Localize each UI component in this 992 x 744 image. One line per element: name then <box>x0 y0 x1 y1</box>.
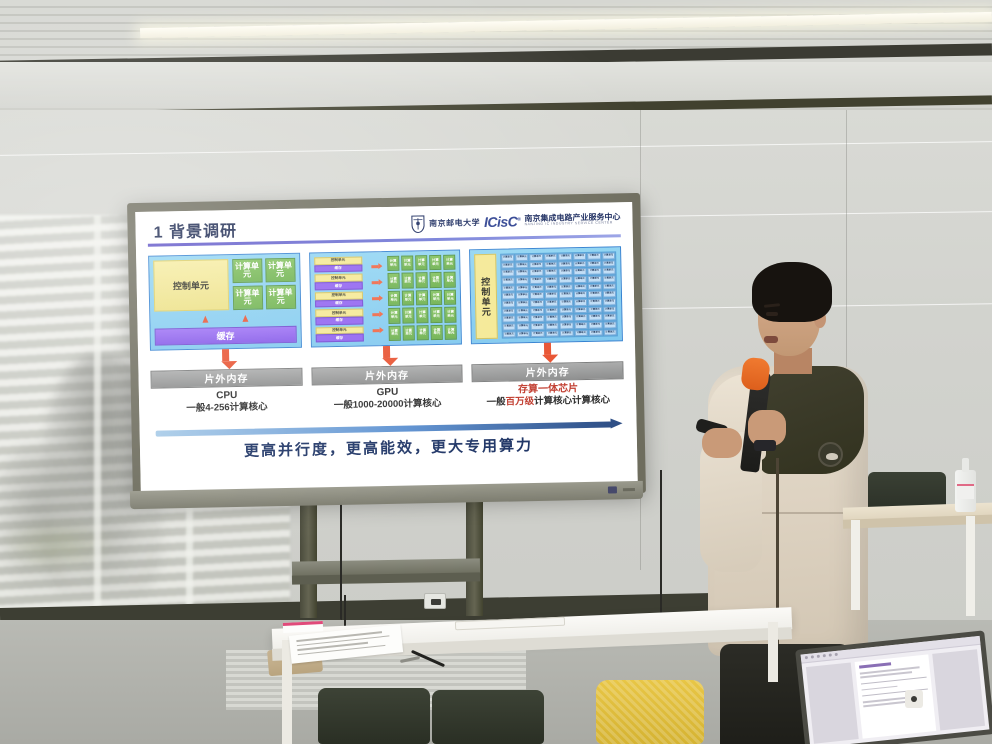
gpu-core: 计算单元 <box>444 289 456 305</box>
pim-cell: 计算单元 <box>587 260 601 267</box>
pim-cell: 计算单元 <box>516 308 530 315</box>
pim-cell: 计算单元 <box>560 322 574 329</box>
pim-cell: 计算单元 <box>516 285 530 292</box>
pim-cell: 计算单元 <box>603 321 617 328</box>
pim-cell: 计算单元 <box>560 330 574 337</box>
gpu-core-grid: 计算单元计算单元计算单元计算单元计算单元计算单元计算单元计算单元计算单元计算单元… <box>387 255 457 342</box>
gpu-control-cache-pair: 控制单元缓存 <box>314 274 362 290</box>
cpu-offchip-memory: 片外内存 <box>150 368 302 388</box>
pim-cell: 计算单元 <box>588 268 602 275</box>
pim-cell: 计算单元 <box>574 307 588 314</box>
laptop-right-pane <box>933 649 986 730</box>
wall-socket[interactable] <box>905 690 923 708</box>
service-center-name: 南京集成电路产业服务中心 NANJING IC INDUSTRY SERVICE… <box>524 214 620 227</box>
hand-sanitizer-bottle[interactable] <box>955 470 976 512</box>
pim-cell: 计算单元 <box>501 285 515 292</box>
pim-cell: 计算单元 <box>588 276 602 283</box>
gpu-core: 计算单元 <box>416 273 428 289</box>
pim-cell: 计算单元 <box>573 261 587 268</box>
table-right-leg <box>851 520 860 610</box>
pim-cell: 计算单元 <box>530 254 544 261</box>
pim-cell: 计算单元 <box>602 291 616 298</box>
gpu-control-cache-pair: 控制单元缓存 <box>314 256 362 272</box>
gpu-core: 计算单元 <box>388 291 400 307</box>
pim-cell: 计算单元 <box>515 269 529 276</box>
pim-cell: 计算单元 <box>502 331 516 338</box>
pim-cell: 计算单元 <box>574 299 588 306</box>
pim-cell: 计算单元 <box>573 253 587 260</box>
cpu-core: 计算单元 <box>232 258 263 283</box>
pim-cell: 计算单元 <box>603 306 617 313</box>
chair-dark[interactable] <box>318 688 430 744</box>
pim-cell: 计算单元 <box>502 308 516 315</box>
pim-cell: 计算单元 <box>517 331 531 338</box>
gpu-control-cache-pair: 控制单元缓存 <box>315 291 363 307</box>
gpu-core: 计算单元 <box>387 256 399 272</box>
pim-cell: 计算单元 <box>559 299 573 306</box>
pim-cell: 计算单元 <box>559 284 573 291</box>
pim-cell: 计算单元 <box>602 260 616 267</box>
pim-cell: 计算单元 <box>589 322 603 329</box>
gpu-core: 计算单元 <box>415 255 427 271</box>
cpu-caption: CPU 一般4-256计算核心 <box>151 388 303 415</box>
gpu-core: 计算单元 <box>401 273 413 289</box>
table-main-leg <box>768 622 778 682</box>
pim-cell: 计算单元 <box>603 329 617 336</box>
gpu-core: 计算单元 <box>445 324 457 340</box>
window-silhouette-2 <box>0 445 85 595</box>
right-arrow-icon <box>367 292 384 306</box>
gpu-core: 计算单元 <box>444 307 456 323</box>
pim-cell: 计算单元 <box>588 299 602 306</box>
slide-title: 1 背景调研 <box>153 217 237 243</box>
pim-cell: 计算单元 <box>603 298 617 305</box>
cpu-control-unit: 控制单元 <box>153 259 229 312</box>
pim-cell: 计算单元 <box>588 283 602 290</box>
pim-cell: 计算单元 <box>560 314 574 321</box>
pim-cell: 计算单元 <box>531 307 545 314</box>
pim-cell: 计算单元 <box>530 269 544 276</box>
room-scene: 1 背景调研 南京邮电大学 ICisC® 南京集成电路产业服务中心 NANJIN… <box>0 0 992 744</box>
pim-cell: 计算单元 <box>559 276 573 283</box>
pim-cell: 计算单元 <box>544 269 558 276</box>
gpu-cache: 缓存 <box>315 334 363 343</box>
gpu-core: 计算单元 <box>430 290 442 306</box>
gpu-cache: 缓存 <box>315 299 363 308</box>
pim-cell: 计算单元 <box>574 330 588 337</box>
right-arrow-icon <box>366 260 383 274</box>
cpu-core: 计算单元 <box>265 258 296 283</box>
stand-leg-right <box>466 498 483 616</box>
pim-cell: 计算单元 <box>559 292 573 299</box>
laptop-lid <box>795 630 992 744</box>
pim-cell: 计算单元 <box>516 277 530 284</box>
pim-cell: 计算单元 <box>574 291 588 298</box>
power-outlet[interactable] <box>424 593 446 609</box>
laptop-document <box>854 654 936 738</box>
pim-cell: 计算单元 <box>545 292 559 299</box>
gpu-core: 计算单元 <box>388 308 400 324</box>
pim-control-unit: 控制单元 <box>474 254 497 340</box>
wristwatch <box>754 440 776 451</box>
up-arrow-icon <box>202 316 208 323</box>
pim-cell: 计算单元 <box>501 262 515 269</box>
display-buttons[interactable] <box>623 488 635 491</box>
pim-cell: 计算单元 <box>545 315 559 322</box>
gpu-architecture-box: 控制单元缓存控制单元缓存控制单元缓存控制单元缓存控制单元缓存 计算单元计算单元计… <box>309 249 463 347</box>
sanitizer-pump[interactable] <box>962 458 969 472</box>
gpu-core: 计算单元 <box>402 308 414 324</box>
gpu-core: 计算单元 <box>429 255 441 271</box>
gpu-control-cache-column: 控制单元缓存控制单元缓存控制单元缓存控制单元缓存控制单元缓存 <box>314 256 364 342</box>
name-card <box>283 621 323 633</box>
pim-cell: 计算单元 <box>573 284 587 291</box>
pim-cell: 计算单元 <box>515 254 529 261</box>
cpu-core-cache-arrows <box>154 313 296 325</box>
pim-cell: 计算单元 <box>573 268 587 275</box>
pim-cell: 计算单元 <box>587 253 601 260</box>
table-right-leg <box>966 516 975 616</box>
cpu-core: 计算单元 <box>265 285 296 310</box>
gpu-caption: GPU 一般1000-20000计算核心 <box>311 385 463 412</box>
laptop-left-pane <box>806 663 859 744</box>
university-name: 南京邮电大学 <box>429 217 480 229</box>
right-arrow-icon <box>367 323 384 337</box>
gpu-core: 计算单元 <box>387 273 399 289</box>
gpu-core: 计算单元 <box>402 325 414 341</box>
pim-cell: 计算单元 <box>544 261 558 268</box>
pim-cell: 计算单元 <box>530 277 544 284</box>
crest-icon <box>410 214 425 233</box>
pim-cell-grid: 计算单元计算单元计算单元计算单元计算单元计算单元计算单元计算单元计算单元计算单元… <box>500 251 618 339</box>
pim-cell: 计算单元 <box>531 330 545 337</box>
pim-cell: 计算单元 <box>530 292 544 299</box>
cpu-core-grid: 计算单元 计算单元 计算单元 计算单元 <box>232 258 296 310</box>
gpu-core: 计算单元 <box>416 290 428 306</box>
pim-cell: 计算单元 <box>602 275 616 282</box>
pim-cell: 计算单元 <box>531 323 545 330</box>
pim-cell: 计算单元 <box>558 253 572 260</box>
pim-cell: 计算单元 <box>588 291 602 298</box>
gpu-core: 计算单元 <box>443 255 455 271</box>
pim-cell: 计算单元 <box>589 314 603 321</box>
icisc-brand: ICisC® <box>484 213 521 230</box>
pim-cell: 计算单元 <box>545 284 559 291</box>
panel-gpu: 控制单元缓存控制单元缓存控制单元缓存控制单元缓存控制单元缓存 计算单元计算单元计… <box>309 249 464 412</box>
gpu-core: 计算单元 <box>430 272 442 288</box>
pim-offchip-memory: 片外内存 <box>472 361 624 381</box>
down-arrow-icon <box>221 349 231 369</box>
pim-cell: 计算单元 <box>602 283 616 290</box>
gpu-core: 计算单元 <box>416 307 428 323</box>
pim-cell: 计算单元 <box>546 330 560 337</box>
pim-cell: 计算单元 <box>517 323 531 330</box>
display-cable <box>340 500 342 620</box>
pim-cell: 计算单元 <box>516 300 530 307</box>
chair-yellow[interactable] <box>596 680 704 744</box>
presenter-mouth <box>764 336 778 343</box>
gpu-cache: 缓存 <box>314 282 362 291</box>
gpu-core: 计算单元 <box>401 255 413 271</box>
pim-cell: 计算单元 <box>588 306 602 313</box>
gpu-offchip-memory: 片外内存 <box>311 365 463 385</box>
presenter-left-hand <box>702 428 742 458</box>
pim-cell: 计算单元 <box>573 276 587 283</box>
pim-cell: 计算单元 <box>602 252 616 259</box>
right-arrow-icon <box>367 307 384 321</box>
pim-cell: 计算单元 <box>560 307 574 314</box>
gpu-control-cache-pair: 控制单元缓存 <box>315 326 363 342</box>
panel-pim: 控制单元 计算单元计算单元计算单元计算单元计算单元计算单元计算单元计算单元计算单… <box>469 246 624 409</box>
laptop[interactable] <box>795 630 992 744</box>
pim-cell: 计算单元 <box>574 322 588 329</box>
pim-cell: 计算单元 <box>589 329 603 336</box>
cpu-cache: 缓存 <box>155 326 297 346</box>
pim-cell: 计算单元 <box>516 315 530 322</box>
logo-lockup: 南京邮电大学 ICisC® 南京集成电路产业服务中心 NANJING IC IN… <box>410 207 621 235</box>
right-arrow-icon <box>366 276 383 290</box>
pim-cell: 计算单元 <box>502 300 516 307</box>
presenter-eye <box>766 312 778 316</box>
gpu-core: 计算单元 <box>402 290 414 306</box>
gpu-core: 计算单元 <box>430 307 442 323</box>
pim-caption-sub: 一般百万级计算核心计算核心 <box>472 394 624 409</box>
pim-cell: 计算单元 <box>516 292 530 299</box>
pim-cell: 计算单元 <box>515 262 529 269</box>
service-center-en: NANJING IC INDUSTRY SERVICE CENTER <box>525 222 621 227</box>
gpu-cache: 缓存 <box>315 316 363 325</box>
cpu-architecture-box: 控制单元 计算单元 计算单元 计算单元 计算单元 <box>148 253 302 351</box>
display-screen[interactable]: 1 背景调研 南京邮电大学 ICisC® 南京集成电路产业服务中心 NANJIN… <box>135 202 638 492</box>
gpu-control-cache-pair: 控制单元缓存 <box>315 309 363 325</box>
pim-cell: 计算单元 <box>602 268 616 275</box>
slide-bottom-banner: 更高并行度，更高能效，更大专用算力 <box>140 432 637 463</box>
pim-cell: 计算单元 <box>531 300 545 307</box>
slide: 1 背景调研 南京邮电大学 ICisC® 南京集成电路产业服务中心 NANJIN… <box>135 202 638 492</box>
cpu-core: 计算单元 <box>232 286 263 311</box>
presenter-hair <box>752 262 832 322</box>
pim-cell: 计算单元 <box>574 314 588 321</box>
gpu-core: 计算单元 <box>388 325 400 341</box>
gpu-caption-sub: 一般1000-20000计算核心 <box>312 398 464 413</box>
gpu-cache: 缓存 <box>314 264 362 273</box>
pim-cell: 计算单元 <box>545 322 559 329</box>
pim-cell: 计算单元 <box>544 277 558 284</box>
pim-cell: 计算单元 <box>501 270 515 277</box>
gpu-arrow-column <box>366 256 385 342</box>
gpu-core: 计算单元 <box>417 325 429 341</box>
laptop-screen[interactable] <box>801 636 990 744</box>
gpu-core: 计算单元 <box>431 325 443 341</box>
pim-cell: 计算单元 <box>545 307 559 314</box>
pim-cell: 计算单元 <box>603 314 617 321</box>
pim-cell: 计算单元 <box>502 293 516 300</box>
pim-cell: 计算单元 <box>559 269 573 276</box>
gpu-core: 计算单元 <box>444 272 456 288</box>
pim-caption: 存算一体芯片 一般百万级计算核心计算核心 <box>472 382 624 409</box>
pim-cell: 计算单元 <box>559 261 573 268</box>
down-arrow-icon <box>381 346 391 366</box>
pim-cell: 计算单元 <box>544 254 558 261</box>
display-sensor-icon <box>608 486 617 493</box>
pim-cell: 计算单元 <box>530 261 544 268</box>
architecture-panels: 控制单元 计算单元 计算单元 计算单元 计算单元 <box>148 246 624 415</box>
down-arrow-icon <box>542 343 552 363</box>
pim-cell: 计算单元 <box>502 316 516 323</box>
sanitizer-label <box>957 484 974 499</box>
chair-dark[interactable] <box>432 690 544 744</box>
stand-leg-left <box>300 500 317 618</box>
pim-cell: 计算单元 <box>530 284 544 291</box>
jacket-logo-badge <box>818 442 843 467</box>
pim-cell: 计算单元 <box>501 254 515 261</box>
pim-cell: 计算单元 <box>501 277 515 284</box>
pim-architecture-box: 控制单元 计算单元计算单元计算单元计算单元计算单元计算单元计算单元计算单元计算单… <box>469 246 623 344</box>
up-arrow-icon <box>242 315 248 322</box>
cpu-caption-sub: 一般4-256计算核心 <box>151 401 303 416</box>
pim-cell: 计算单元 <box>531 315 545 322</box>
wall-display[interactable]: 1 背景调研 南京邮电大学 ICisC® 南京集成电路产业服务中心 NANJIN… <box>127 193 646 503</box>
side-cable <box>660 470 662 620</box>
pim-cell: 计算单元 <box>545 299 559 306</box>
pim-cell: 计算单元 <box>502 323 516 330</box>
panel-cpu: 控制单元 计算单元 计算单元 计算单元 计算单元 <box>148 253 303 416</box>
